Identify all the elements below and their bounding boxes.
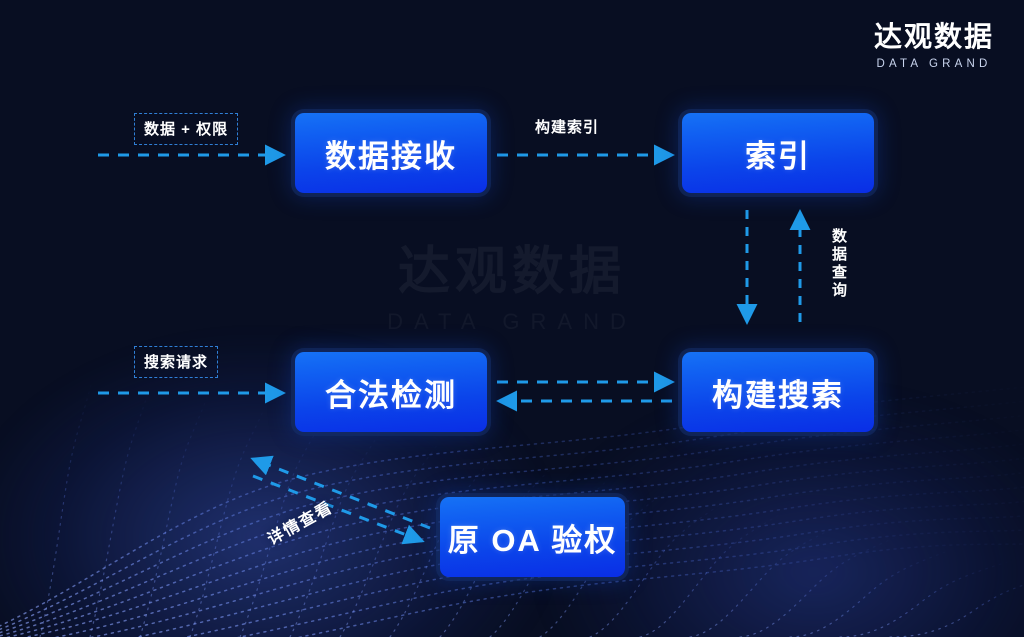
- watermark-en: DATA GRAND: [387, 309, 637, 335]
- node-data-receive[interactable]: 数据接收: [295, 113, 487, 193]
- chip-data-permission: 数据 + 权限: [134, 113, 238, 145]
- node-oa-auth[interactable]: 原 OA 验权: [440, 497, 625, 577]
- node-index[interactable]: 索引: [682, 113, 874, 193]
- edge-label-detail-view: 详情查看: [262, 494, 337, 550]
- brand-logo-cn: 达观数据: [874, 22, 994, 53]
- node-index-label: 索引: [745, 131, 811, 176]
- node-build-search-label: 构建搜索: [712, 370, 844, 415]
- watermark: 达观数据 DATA GRAND: [387, 246, 637, 335]
- chip-search-request: 搜索请求: [134, 346, 218, 378]
- node-oa-auth-label: 原 OA 验权: [448, 515, 618, 560]
- node-data-receive-label: 数据接收: [325, 131, 457, 176]
- node-legality-check[interactable]: 合法检测: [295, 352, 487, 432]
- watermark-cn: 达观数据: [387, 246, 637, 298]
- edge-label-data-query: 数据查询: [828, 228, 849, 300]
- brand-logo-en: DATA GRAND: [874, 58, 994, 70]
- brand-logo: 达观数据 DATA GRAND: [874, 22, 994, 70]
- node-build-search[interactable]: 构建搜索: [682, 352, 874, 432]
- background-glow-bottom-left: [0, 277, 640, 637]
- node-legality-check-label: 合法检测: [325, 370, 457, 415]
- edge-label-build-index: 构建索引: [535, 116, 599, 137]
- slide-canvas: 达观数据 DATA GRAND 达观数据 DATA GRAND: [0, 0, 1024, 637]
